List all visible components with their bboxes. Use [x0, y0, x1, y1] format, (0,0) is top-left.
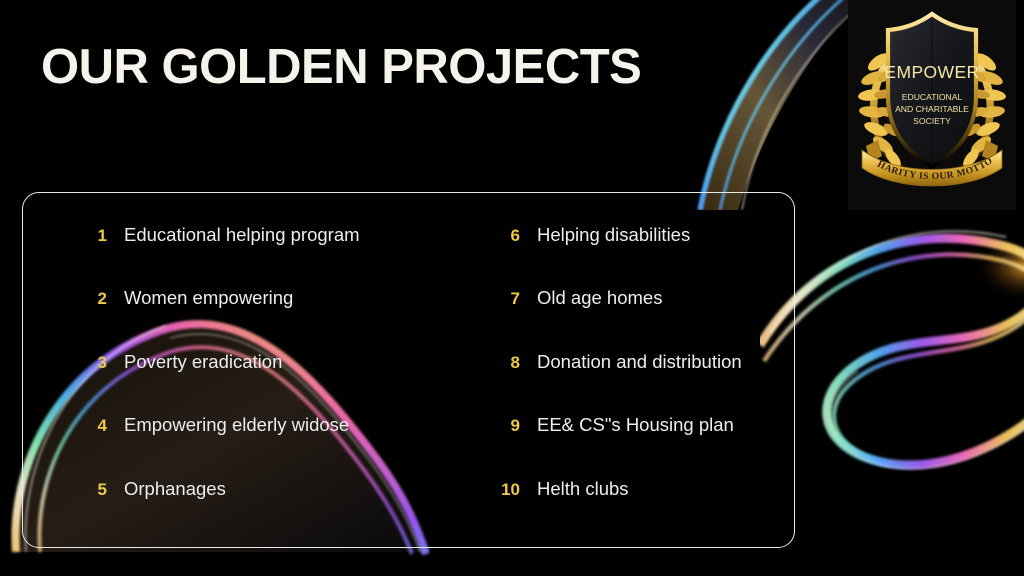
list-item-number: 7	[494, 289, 520, 309]
list-item-label: EE& CS"s Housing plan	[537, 414, 734, 436]
list-item-label: Educational helping program	[124, 224, 360, 246]
list-item-number: 5	[81, 480, 107, 500]
list-item[interactable]: 8 Donation and distribution	[494, 351, 742, 373]
list-item-number: 4	[81, 416, 107, 436]
list-item-label: Orphanages	[124, 478, 226, 500]
logo-subtitle-line1: EDUCATIONAL	[902, 92, 963, 102]
list-item-label: Old age homes	[537, 287, 662, 309]
logo-name: EMPOWER	[884, 62, 979, 82]
page-title: OUR GOLDEN PROJECTS	[41, 39, 641, 95]
list-item[interactable]: 7 Old age homes	[494, 287, 662, 309]
list-item-label: Helth clubs	[537, 478, 629, 500]
list-item-label: Helping disabilities	[537, 224, 690, 246]
list-item-number: 3	[81, 353, 107, 373]
list-item-number: 10	[494, 480, 520, 500]
list-item[interactable]: 3 Poverty eradication	[81, 351, 282, 373]
logo-svg: EMPOWER EDUCATIONAL AND CHARITABLE SOCIE…	[848, 0, 1016, 210]
logo-subtitle-line2: AND CHARITABLE	[895, 104, 969, 114]
logo-subtitle-line3: SOCIETY	[913, 116, 951, 126]
list-item-label: Women empowering	[124, 287, 293, 309]
organization-logo: EMPOWER EDUCATIONAL AND CHARITABLE SOCIE…	[848, 0, 1016, 210]
right-ribbon-decoration	[760, 215, 1024, 475]
list-item[interactable]: 2 Women empowering	[81, 287, 293, 309]
list-item-label: Poverty eradication	[124, 351, 282, 373]
list-item-number: 2	[81, 289, 107, 309]
presentation-slide: OUR GOLDEN PROJECTS 1 Educational helpin…	[0, 0, 1024, 576]
list-item[interactable]: 9 EE& CS"s Housing plan	[494, 414, 734, 436]
list-item[interactable]: 4 Empowering elderly widose	[81, 414, 349, 436]
list-item-number: 1	[81, 226, 107, 246]
list-item-number: 8	[494, 353, 520, 373]
list-item[interactable]: 6 Helping disabilities	[494, 224, 690, 246]
list-item[interactable]: 10 Helth clubs	[494, 478, 629, 500]
list-item[interactable]: 1 Educational helping program	[81, 224, 360, 246]
list-item-label: Empowering elderly widose	[124, 414, 349, 436]
list-item-number: 6	[494, 226, 520, 246]
list-item-label: Donation and distribution	[537, 351, 742, 373]
list-item-number: 9	[494, 416, 520, 436]
shield-icon	[888, 14, 976, 166]
list-item[interactable]: 5 Orphanages	[81, 478, 226, 500]
projects-panel: 1 Educational helping program 2 Women em…	[22, 192, 795, 548]
